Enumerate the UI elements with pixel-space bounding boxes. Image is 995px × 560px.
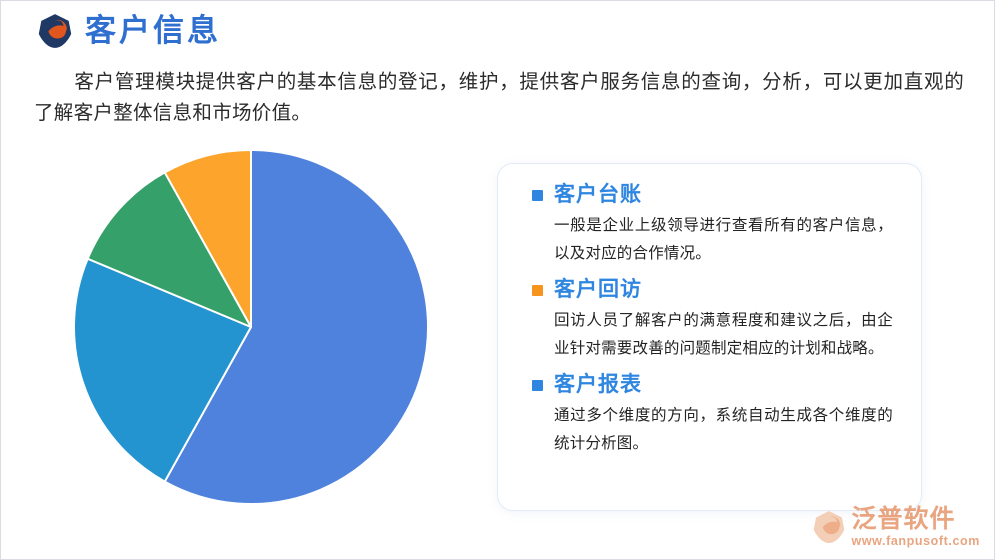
- info-section-title: 客户回访: [554, 277, 642, 303]
- pie-slice-group: [74, 150, 428, 504]
- info-section-body: 一般是企业上级领导进行查看所有的客户信息，以及对应的合作情况。: [532, 212, 893, 268]
- bullet-square-icon: [532, 285, 543, 296]
- pie-chart: [73, 141, 458, 516]
- info-section-header: 客户回访: [532, 277, 893, 303]
- bullet-square-icon: [532, 190, 543, 201]
- pie-chart-svg: [73, 141, 458, 516]
- info-section-title: 客户报表: [554, 372, 642, 398]
- info-section-body: 通过多个维度的方向，系统自动生成各个维度的统计分析图。: [532, 402, 893, 458]
- info-section-customer-ledger: 客户台账 一般是企业上级领导进行查看所有的客户信息，以及对应的合作情况。: [532, 182, 893, 268]
- bullet-square-icon: [532, 380, 543, 391]
- watermark-name: 泛普软件: [852, 507, 981, 532]
- slide-page: 客户信息 客户管理模块提供客户的基本信息的登记，维护，提供客户服务信息的查询，分…: [0, 0, 995, 560]
- watermark: 泛普软件 www.fanpusoft.com: [812, 507, 981, 548]
- info-section-customer-revisit: 客户回访 回访人员了解客户的满意程度和建议之后，由企业针对需要改善的问题制定相应…: [532, 277, 893, 363]
- intro-paragraph: 客户管理模块提供客户的基本信息的登记，维护，提供客户服务信息的查询，分析，可以更…: [34, 67, 964, 129]
- fanpu-swoosh-logo-icon: [37, 13, 73, 49]
- intro-text: 客户管理模块提供客户的基本信息的登记，维护，提供客户服务信息的查询，分析，可以更…: [34, 71, 964, 124]
- info-section-header: 客户台账: [532, 182, 893, 208]
- info-section-body: 回访人员了解客户的满意程度和建议之后，由企业针对需要改善的问题制定相应的计划和战…: [532, 307, 893, 363]
- watermark-url: www.fanpusoft.com: [852, 535, 981, 548]
- info-section-header: 客户报表: [532, 372, 893, 398]
- info-card: 客户台账 一般是企业上级领导进行查看所有的客户信息，以及对应的合作情况。 客户回…: [497, 163, 922, 511]
- watermark-text: 泛普软件 www.fanpusoft.com: [852, 507, 981, 548]
- page-title: 客户信息: [85, 13, 221, 49]
- page-header: 客户信息: [37, 13, 221, 49]
- fanpu-swoosh-logo-icon: [812, 510, 846, 544]
- info-section-title: 客户台账: [554, 182, 642, 208]
- info-section-customer-report: 客户报表 通过多个维度的方向，系统自动生成各个维度的统计分析图。: [532, 372, 893, 458]
